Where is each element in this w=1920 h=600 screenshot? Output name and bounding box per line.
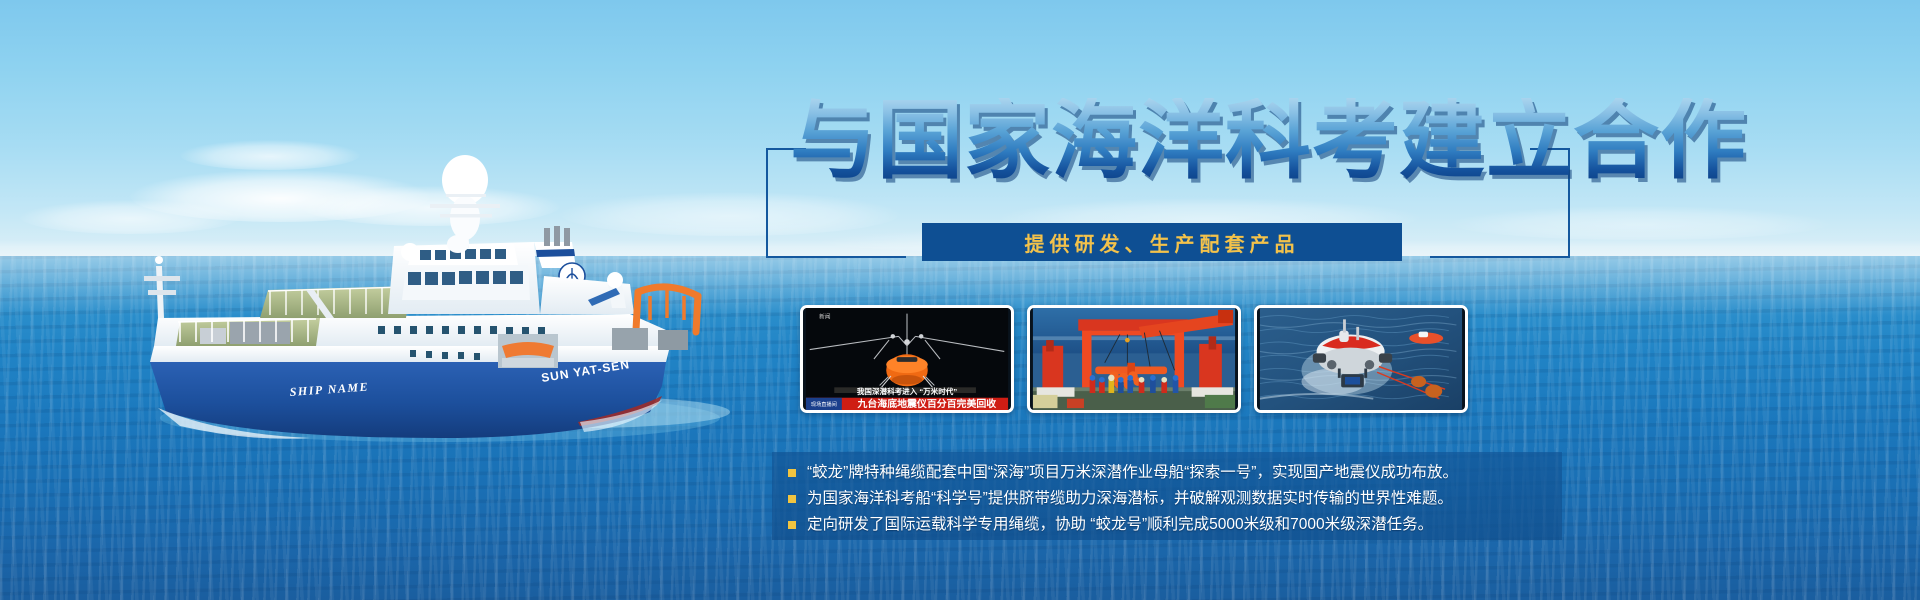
thumb1-top-label: 新闻 <box>819 312 831 320</box>
thumbnail-research-vessel-crane[interactable] <box>1027 305 1241 413</box>
research-vessel-illustration: SHIP NAME SUN YAT-SEN <box>110 150 750 450</box>
feature-bullet-panel: “蛟龙”牌特种绳缆配套中国“深海”项目万米深潜作业母船“探索一号”，实现国产地震… <box>772 452 1562 540</box>
cloud-shape <box>1450 206 1830 240</box>
list-item: 定向研发了国际运载科学专用绳缆，协助 “蛟龙号”顺利完成5000米级和7000米… <box>788 513 1548 536</box>
bullet-text: 定向研发了国际运载科学专用绳缆，协助 “蛟龙号”顺利完成5000米级和7000米… <box>807 514 1433 535</box>
bullet-text: 为国家海洋科考船“科学号”提供脐带缆助力深海潜标，并破解观测数据实时传输的世界性… <box>807 488 1453 509</box>
bullet-square-icon <box>788 495 796 503</box>
thumb1-caption: 我国深潜科考进入 “万米时代” <box>857 386 957 396</box>
thumb1-banner-text: 九台海底地震仪百分百完美回收 <box>856 397 996 410</box>
bullet-square-icon <box>788 469 796 477</box>
bullet-text: “蛟龙”牌特种绳缆配套中国“深海”项目万米深潜作业母船“探索一号”，实现国产地震… <box>807 462 1458 483</box>
subtitle-ribbon: 提供研发、生产配套产品 <box>922 223 1402 261</box>
list-item: 为国家海洋科考船“科学号”提供脐带缆助力深海潜标，并破解观测数据实时传输的世界性… <box>788 487 1548 510</box>
thumbnail-deep-sea-seismograph-news[interactable]: 我国深潜科考进入 “万米时代” 现场直播间 九台海底地震仪百分百完美回收 新闻 <box>800 305 1014 413</box>
thumbnail-gallery: 我国深潜科考进入 “万米时代” 现场直播间 九台海底地震仪百分百完美回收 新闻 <box>800 305 1468 413</box>
list-item: “蛟龙”牌特种绳缆配套中国“深海”项目万米深潜作业母船“探索一号”，实现国产地震… <box>788 461 1548 484</box>
thumb1-corner-label: 现场直播间 <box>811 400 837 408</box>
page-title: 与国家海洋科考建立合作 <box>790 98 1747 184</box>
bracket-decor-right-bottom <box>1430 256 1570 258</box>
subtitle-text: 提供研发、生产配套产品 <box>1025 228 1300 257</box>
bracket-decor-left-bottom <box>766 256 906 258</box>
bullet-square-icon <box>788 521 796 529</box>
thumbnail-jiaolong-submersible[interactable] <box>1254 305 1468 413</box>
hero-banner: SHIP NAME SUN YAT-SEN 与国家海洋科考建立合作 提供研发、生… <box>0 0 1920 600</box>
